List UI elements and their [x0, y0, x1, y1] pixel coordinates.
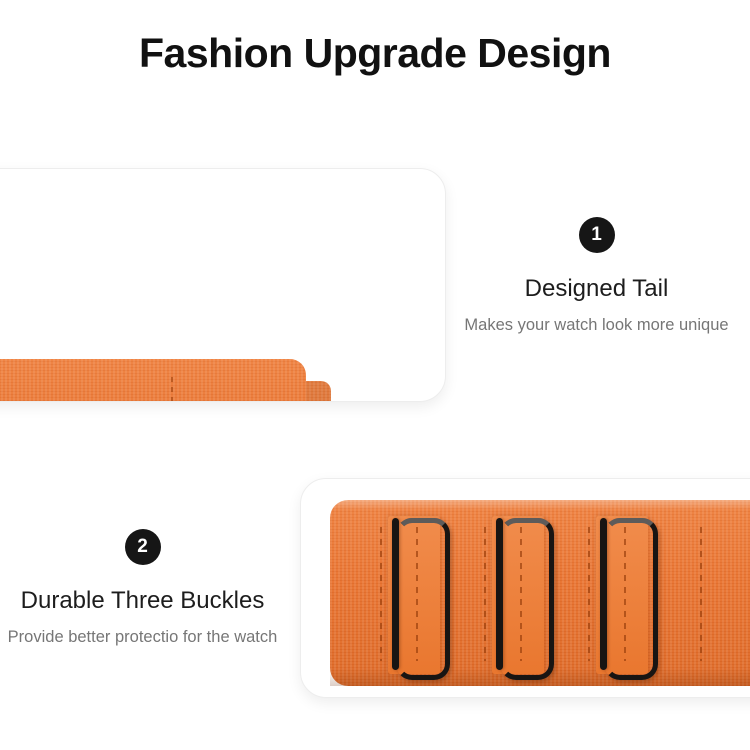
- feature-designed-tail: 1 Designed Tail Makes your watch look mo…: [443, 217, 750, 337]
- photo-card-designed-tail: KB 05 SWEATPROOF DURABLE TENACITY Kalebo…: [0, 168, 446, 402]
- strap-tail: [0, 359, 306, 402]
- feature-three-buckles: 2 Durable Three Buckles Provide better p…: [0, 529, 285, 649]
- feature-1-description: Makes your watch look more unique: [443, 314, 750, 337]
- buckle-2-bar: [496, 518, 503, 670]
- feature-2-badge: 2: [125, 529, 161, 565]
- feature-1-title: Designed Tail: [443, 275, 750, 303]
- feature-2-description: Provide better protectio for the watch: [0, 626, 285, 649]
- buckle-3-bar: [600, 518, 607, 670]
- strap-highlight-top: [330, 500, 750, 510]
- buckle-1-bar: [392, 518, 399, 670]
- feature-2-number: 2: [137, 529, 148, 565]
- stitch-line-7: [700, 527, 702, 661]
- feature-1-badge: 1: [579, 217, 615, 253]
- stitch-line-3: [484, 527, 486, 661]
- product-infographic: Fashion Upgrade Design KB 05 SWEATPROOF …: [0, 0, 750, 750]
- buckle-2: [500, 518, 554, 680]
- buckle-1: [396, 518, 450, 680]
- feature-1-number: 1: [591, 217, 602, 253]
- stitch-line-5: [588, 527, 590, 661]
- stitch-line-right: [171, 377, 173, 402]
- feature-2-title: Durable Three Buckles: [0, 587, 285, 615]
- buckle-3: [604, 518, 658, 680]
- page-title: Fashion Upgrade Design: [0, 30, 750, 77]
- stitch-line-1: [380, 527, 382, 661]
